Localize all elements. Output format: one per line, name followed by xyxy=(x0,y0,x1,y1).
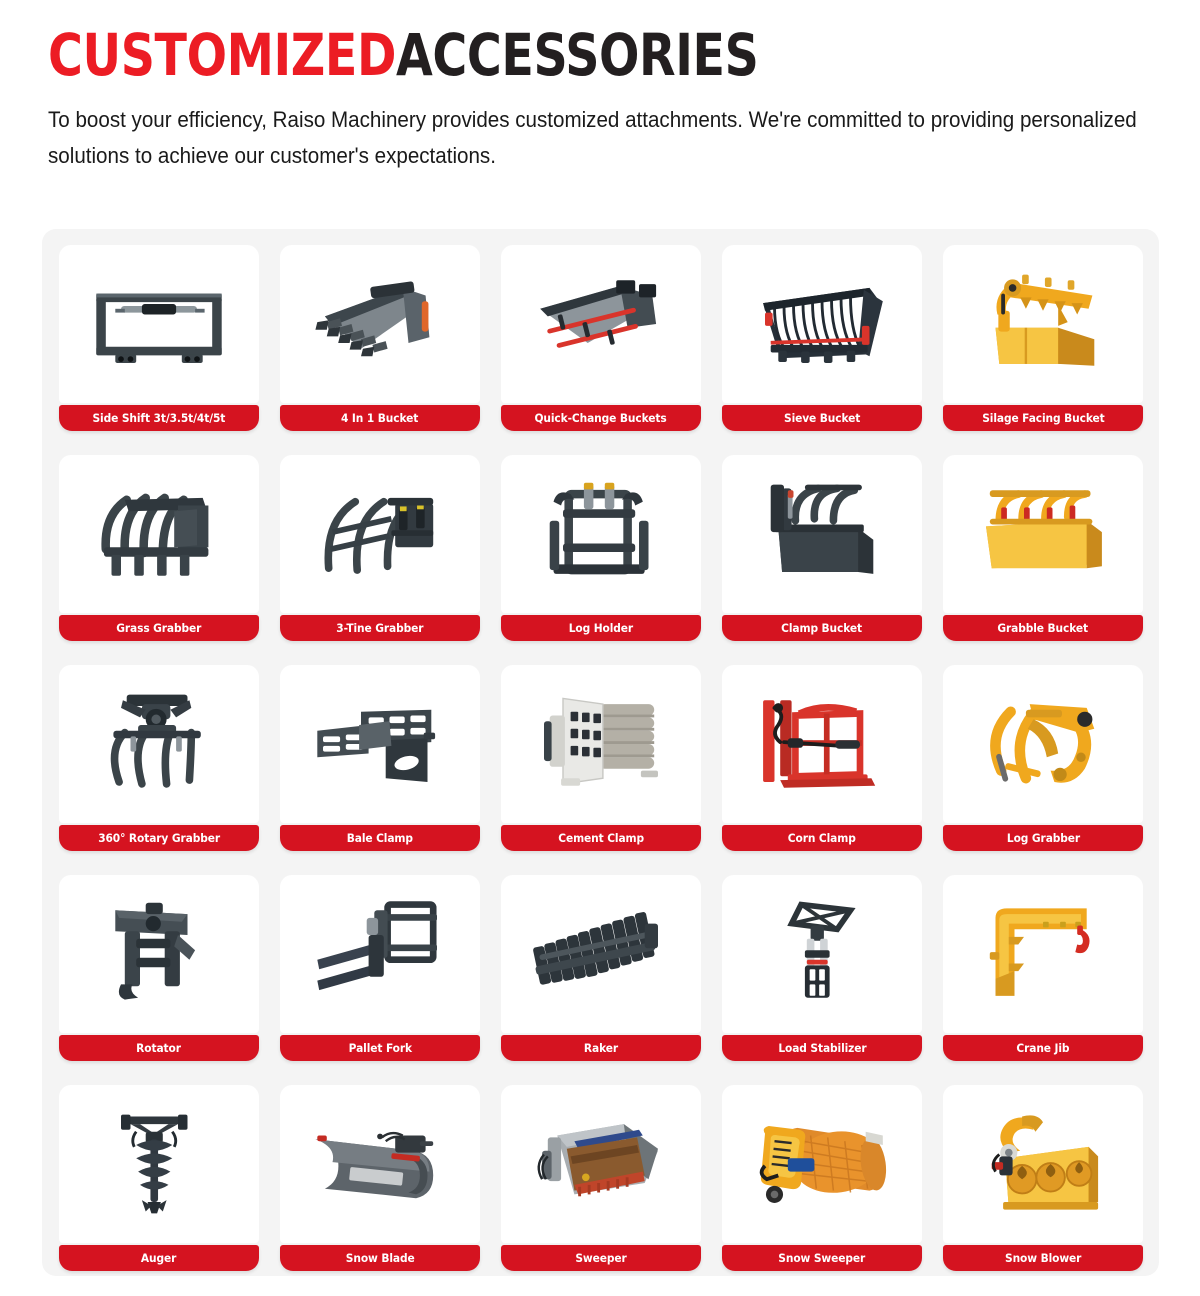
product-card-bale-clamp[interactable]: Bale Clamp xyxy=(280,665,480,859)
product-label-text: Pallet Fork xyxy=(348,1042,411,1055)
product-card-snow-blower[interactable]: Snow Blower xyxy=(943,1085,1143,1279)
product-card-grass-grabber[interactable]: Grass Grabber xyxy=(59,455,259,649)
product-label-text: Silage Facing Bucket xyxy=(982,412,1104,425)
product-label-auger[interactable]: Auger xyxy=(59,1245,259,1271)
product-label-text: Crane Jib xyxy=(1016,1042,1069,1055)
auger-icon xyxy=(59,1085,259,1243)
grass-grabber-icon xyxy=(59,455,259,613)
product-label-text: Raker xyxy=(584,1042,618,1055)
crane-jib-icon xyxy=(943,875,1143,1033)
product-card-grabble-bucket[interactable]: Grabble Bucket xyxy=(943,455,1143,649)
product-label-corn-clamp[interactable]: Corn Clamp xyxy=(722,825,922,851)
product-label-text: Snow Blade xyxy=(346,1252,415,1265)
product-card-side-shift[interactable]: Side Shift 3t/3.5t/4t/5t xyxy=(59,245,259,439)
product-label-log-holder[interactable]: Log Holder xyxy=(501,615,701,641)
snow-blade-icon xyxy=(280,1085,480,1243)
product-card-sweeper[interactable]: Sweeper xyxy=(501,1085,701,1279)
product-card-quick-change[interactable]: Quick-Change Buckets xyxy=(501,245,701,439)
quick-change-bucket-icon xyxy=(501,245,701,403)
product-label-text: Load Stabilizer xyxy=(778,1042,866,1055)
product-label-text: Snow Sweeper xyxy=(779,1252,866,1265)
sieve-bucket-icon xyxy=(722,245,922,403)
product-label-text: Bale Clamp xyxy=(347,832,413,845)
snow-blower-icon xyxy=(943,1085,1143,1243)
three-tine-grabber-icon xyxy=(280,455,480,613)
product-card-auger[interactable]: Auger xyxy=(59,1085,259,1279)
product-label-grass-grabber[interactable]: Grass Grabber xyxy=(59,615,259,641)
product-label-text: Side Shift 3t/3.5t/4t/5t xyxy=(93,412,226,425)
silage-facing-bucket-icon xyxy=(943,245,1143,403)
grabble-bucket-icon xyxy=(943,455,1143,613)
product-label-pallet-fork[interactable]: Pallet Fork xyxy=(280,1035,480,1061)
product-label-sieve-bucket[interactable]: Sieve Bucket xyxy=(722,405,922,431)
product-label-text: Log Holder xyxy=(569,622,633,635)
sweeper-icon xyxy=(501,1085,701,1243)
product-card-pallet-fork[interactable]: Pallet Fork xyxy=(280,875,480,1069)
product-label-snow-blade[interactable]: Snow Blade xyxy=(280,1245,480,1271)
page-title: CUSTOMIZEDACCESSORIES xyxy=(48,26,953,84)
product-label-load-stabilizer[interactable]: Load Stabilizer xyxy=(722,1035,922,1061)
pallet-fork-icon xyxy=(280,875,480,1033)
product-label-text: Clamp Bucket xyxy=(782,622,863,635)
product-label-text: Quick-Change Buckets xyxy=(535,412,667,425)
snow-sweeper-icon xyxy=(722,1085,922,1243)
product-card-raker[interactable]: Raker xyxy=(501,875,701,1069)
product-card-corn-clamp[interactable]: Corn Clamp xyxy=(722,665,922,859)
log-holder-icon xyxy=(501,455,701,613)
product-label-rotary-grabber[interactable]: 360° Rotary Grabber xyxy=(59,825,259,851)
raker-icon xyxy=(501,875,701,1033)
title-word-accessories: ACCESSORIES xyxy=(396,21,758,89)
product-card-snow-blade[interactable]: Snow Blade xyxy=(280,1085,480,1279)
side-shift-frame-icon xyxy=(59,245,259,403)
cement-clamp-icon xyxy=(501,665,701,823)
product-label-side-shift[interactable]: Side Shift 3t/3.5t/4t/5t xyxy=(59,405,259,431)
product-label-text: Auger xyxy=(141,1252,176,1265)
product-label-cement-clamp[interactable]: Cement Clamp xyxy=(501,825,701,851)
product-card-crane-jib[interactable]: Crane Jib xyxy=(943,875,1143,1069)
product-label-clamp-bucket[interactable]: Clamp Bucket xyxy=(722,615,922,641)
product-card-4-in-1-bucket[interactable]: 4 In 1 Bucket xyxy=(280,245,480,439)
products-panel: Side Shift 3t/3.5t/4t/5t 4 In 1 Bucket xyxy=(42,229,1159,1276)
product-card-silage-facing[interactable]: Silage Facing Bucket xyxy=(943,245,1143,439)
product-label-sweeper[interactable]: Sweeper xyxy=(501,1245,701,1271)
product-card-rotary-grabber[interactable]: 360° Rotary Grabber xyxy=(59,665,259,859)
product-label-text: Corn Clamp xyxy=(788,832,856,845)
product-label-crane-jib[interactable]: Crane Jib xyxy=(943,1035,1143,1061)
clamp-bucket-icon xyxy=(722,455,922,613)
product-label-text: Grass Grabber xyxy=(116,622,201,635)
product-label-quick-change[interactable]: Quick-Change Buckets xyxy=(501,405,701,431)
product-card-sieve-bucket[interactable]: Sieve Bucket xyxy=(722,245,922,439)
product-label-text: Rotator xyxy=(137,1042,182,1055)
rotator-icon xyxy=(59,875,259,1033)
load-stabilizer-icon xyxy=(722,875,922,1033)
product-label-text: Grabble Bucket xyxy=(998,622,1089,635)
product-label-grabble-bucket[interactable]: Grabble Bucket xyxy=(943,615,1143,641)
log-grabber-icon xyxy=(943,665,1143,823)
product-label-bale-clamp[interactable]: Bale Clamp xyxy=(280,825,480,851)
product-card-clamp-bucket[interactable]: Clamp Bucket xyxy=(722,455,922,649)
page-root: CUSTOMIZEDACCESSORIES To boost your effi… xyxy=(0,0,1200,1296)
product-label-4-in-1-bucket[interactable]: 4 In 1 Bucket xyxy=(280,405,480,431)
product-card-snow-sweeper[interactable]: Snow Sweeper xyxy=(722,1085,922,1279)
product-label-silage-facing[interactable]: Silage Facing Bucket xyxy=(943,405,1143,431)
product-label-text: Sieve Bucket xyxy=(784,412,860,425)
rotary-grabber-icon xyxy=(59,665,259,823)
product-card-log-holder[interactable]: Log Holder xyxy=(501,455,701,649)
product-label-log-grabber[interactable]: Log Grabber xyxy=(943,825,1143,851)
product-label-raker[interactable]: Raker xyxy=(501,1035,701,1061)
page-subtitle: To boost your efficiency, Raiso Machiner… xyxy=(48,102,1200,175)
bale-clamp-icon xyxy=(280,665,480,823)
product-label-text: Cement Clamp xyxy=(558,832,644,845)
product-card-log-grabber[interactable]: Log Grabber xyxy=(943,665,1143,859)
four-in-one-bucket-icon xyxy=(280,245,480,403)
product-label-snow-sweeper[interactable]: Snow Sweeper xyxy=(722,1245,922,1271)
product-label-text: 360° Rotary Grabber xyxy=(98,832,220,845)
product-label-3-tine-grabber[interactable]: 3-Tine Grabber xyxy=(280,615,480,641)
product-label-text: 4 In 1 Bucket xyxy=(341,412,418,425)
product-label-snow-blower[interactable]: Snow Blower xyxy=(943,1245,1143,1271)
product-label-text: Snow Blower xyxy=(1005,1252,1081,1265)
product-card-load-stabilizer[interactable]: Load Stabilizer xyxy=(722,875,922,1069)
page-header: CUSTOMIZEDACCESSORIES To boost your effi… xyxy=(0,0,1200,175)
corn-clamp-icon xyxy=(722,665,922,823)
title-word-customized: CUSTOMIZED xyxy=(48,21,396,89)
product-card-cement-clamp[interactable]: Cement Clamp xyxy=(501,665,701,859)
product-label-text: Log Grabber xyxy=(1006,832,1079,845)
products-grid: Side Shift 3t/3.5t/4t/5t 4 In 1 Bucket xyxy=(59,245,1143,1295)
product-label-text: 3-Tine Grabber xyxy=(336,622,423,635)
product-card-3-tine-grabber[interactable]: 3-Tine Grabber xyxy=(280,455,480,649)
product-label-text: Sweeper xyxy=(575,1252,626,1265)
product-card-rotator[interactable]: Rotator xyxy=(59,875,259,1069)
product-label-rotator[interactable]: Rotator xyxy=(59,1035,259,1061)
